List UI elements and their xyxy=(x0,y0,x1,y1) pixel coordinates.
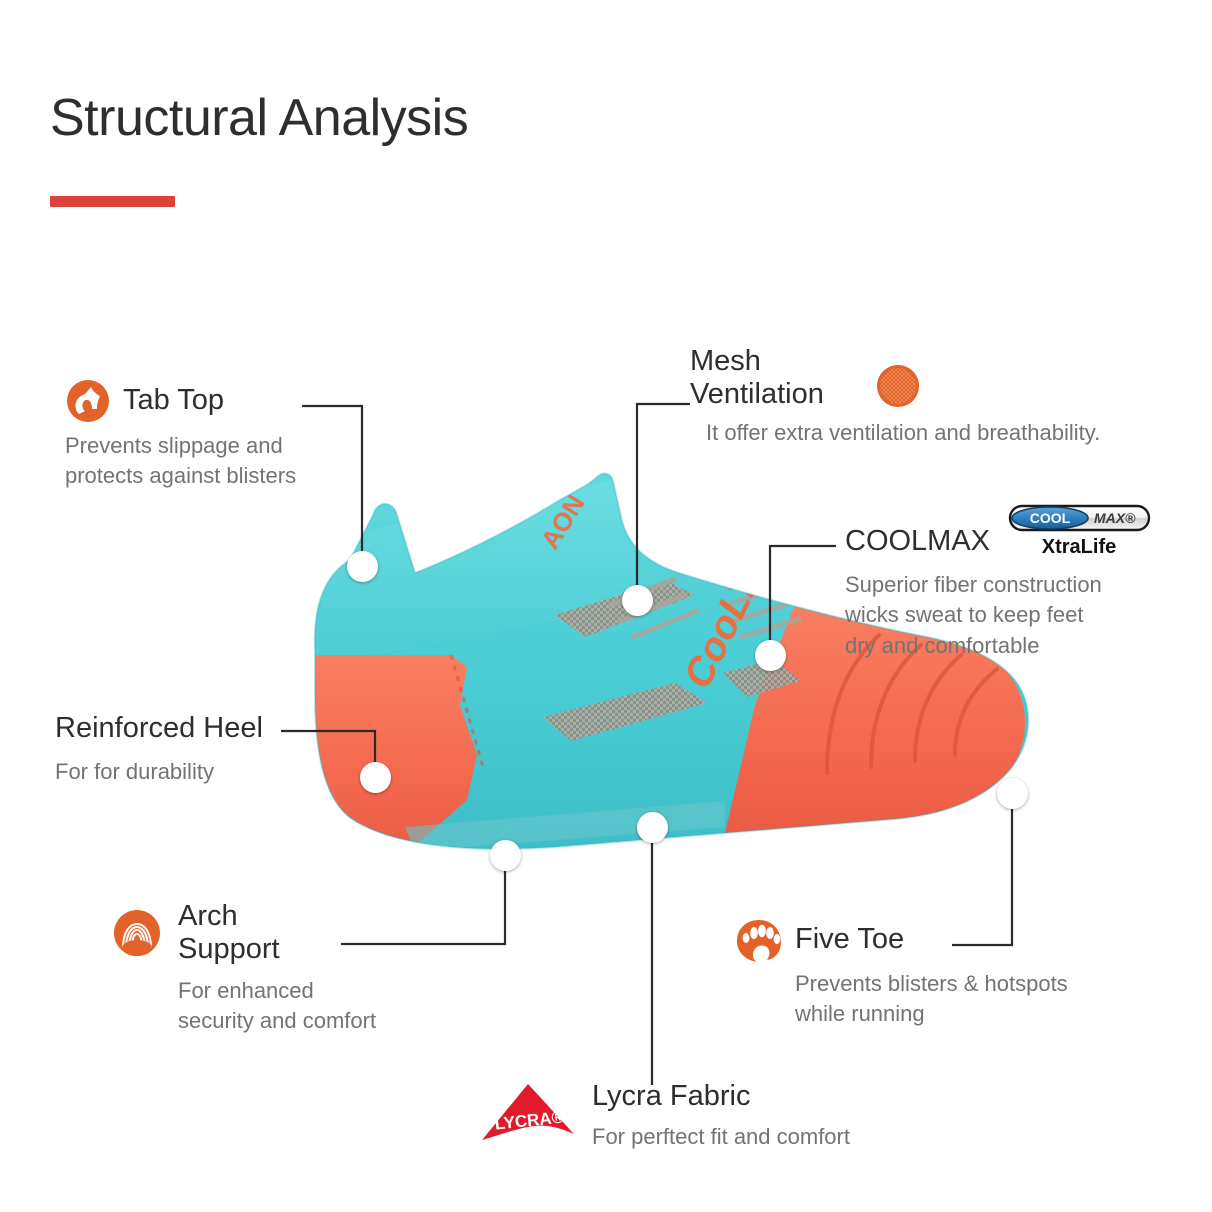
callout-mesh-ventilation: Mesh Ventilation It offer extra ventilat… xyxy=(690,345,1190,448)
hotspot-dot-coolmax[interactable] xyxy=(755,640,786,671)
title-accent-rule xyxy=(50,196,175,207)
callout-lycra-fabric: Lycra Fabric For perftect fit and comfor… xyxy=(592,1080,992,1152)
coolmax-word-max: MAX® xyxy=(1094,510,1136,526)
callout-title: Reinforced Heel xyxy=(55,712,263,745)
hotspot-dot-reinforced-heel[interactable] xyxy=(360,762,391,793)
callout-description: For enhanced security and comfort xyxy=(178,976,442,1037)
callout-description: For perftect fit and comfort xyxy=(592,1122,992,1152)
callout-description: For for durability xyxy=(55,757,355,787)
hotspot-dot-tab-top[interactable] xyxy=(347,551,378,582)
five-toe-paw-icon xyxy=(735,918,783,962)
callout-title: Lycra Fabric xyxy=(592,1080,750,1113)
infographic-page: Structural Analysis xyxy=(0,0,1212,1212)
callout-title: Tab Top xyxy=(123,384,224,417)
callout-description: Superior fiber construction wicks sweat … xyxy=(845,570,1185,661)
coolmax-word-xtralife: XtraLife xyxy=(1042,536,1116,558)
hotspot-dot-arch-support[interactable] xyxy=(490,840,521,871)
coolmax-logo: COOL MAX® XtraLife xyxy=(1008,503,1151,563)
callout-description: Prevents slippage and protects against b… xyxy=(65,431,365,492)
coolmax-word-cool: COOL xyxy=(1030,510,1071,526)
callout-reinforced-heel: Reinforced Heel For for durability xyxy=(55,712,355,787)
callout-title: Arch Support xyxy=(178,900,280,966)
callout-title: COOLMAX xyxy=(845,525,990,558)
lycra-wordmark: LYCRA® xyxy=(494,1107,566,1133)
page-title: Structural Analysis xyxy=(50,88,468,148)
tab-top-icon xyxy=(65,378,111,424)
callout-description: Prevents blisters & hotspots while runni… xyxy=(795,969,1135,1030)
mesh-circle-icon xyxy=(875,363,921,409)
callout-tab-top: Tab Top Prevents slippage and protects a… xyxy=(65,378,365,492)
callout-title: Mesh Ventilation xyxy=(690,345,865,411)
hotspot-dot-mesh-ventilation[interactable] xyxy=(622,585,653,616)
callout-description: It offer extra ventilation and breathabi… xyxy=(706,418,1190,448)
lycra-logo: LYCRA® xyxy=(478,1078,578,1148)
callout-title: Five Toe xyxy=(795,923,904,956)
hotspot-dot-five-toe[interactable] xyxy=(997,778,1028,809)
arch-support-icon xyxy=(112,908,162,958)
hotspot-dot-lycra[interactable] xyxy=(637,812,668,843)
callout-five-toe: Five Toe Prevents blisters & hotspots wh… xyxy=(735,918,1135,1030)
callout-arch-support: Arch Support For enhanced security and c… xyxy=(112,900,442,1037)
